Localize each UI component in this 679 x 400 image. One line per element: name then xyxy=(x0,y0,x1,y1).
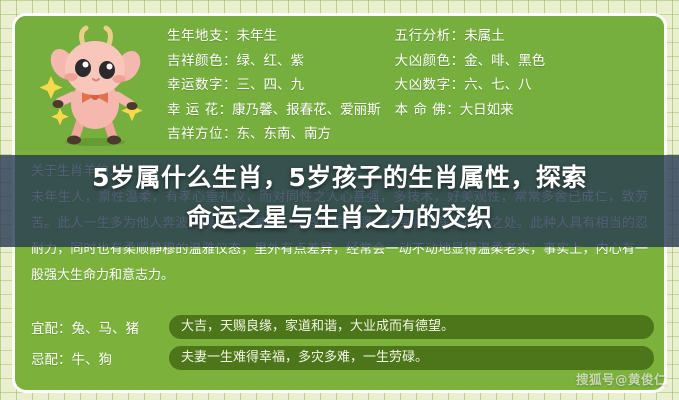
page-title-line-2: 命运之星与生肖之力的交织 xyxy=(26,198,653,238)
page-title: 5岁属什么生肖，5岁孩子的生肖属性，探索 命运之星与生肖之力的交织 xyxy=(0,158,679,238)
attribute-row: 本 命 佛：大日如来 xyxy=(395,98,546,123)
attribute-sep: ： xyxy=(219,102,233,118)
goat-mascot-icon xyxy=(33,24,158,149)
attribute-label: 幸 运 花 xyxy=(167,102,219,118)
attribute-value: 大日如来 xyxy=(460,102,514,118)
attribute-value: 六、七、八 xyxy=(464,77,532,93)
attribute-value: 东、东南、南方 xyxy=(237,126,332,142)
attribute-sep: ： xyxy=(451,28,465,44)
compatibility-label: 忌配：牛、狗 xyxy=(31,348,169,368)
watermark: 搜狐号@黄俊仁 xyxy=(576,369,667,388)
page-title-line-1: 5岁属什么生肖，5岁孩子的生肖属性，探索 xyxy=(26,158,653,198)
attribute-sep: ： xyxy=(446,102,460,118)
attribute-label: 五行分析 xyxy=(395,28,451,44)
attribute-row: 幸 运 花：康乃馨、报春花、爱丽斯 xyxy=(167,98,381,123)
attribute-label: 吉祥颜色 xyxy=(167,53,223,69)
attribute-row: 大凶颜色：金、啡、黑色 xyxy=(395,49,546,74)
attribute-row: 大凶数字：六、七、八 xyxy=(395,73,546,98)
attribute-row: 吉祥颜色：绿、红、紫 xyxy=(167,49,381,74)
attribute-sep: ： xyxy=(451,53,465,69)
attribute-row: 幸运数字：三、四、九 xyxy=(167,73,381,98)
attribute-label: 本 命 佛 xyxy=(395,102,447,118)
compatibility-label: 宜配：兔、马、猪 xyxy=(31,317,169,337)
compatibility-row-bad: 忌配：牛、狗 夫妻一生难得幸福，多灾多难，一生劳碌。 xyxy=(31,344,654,371)
compatibility-row-good: 宜配：兔、马、猪 大吉，天赐良缘，家道和谐，大业成而有德望。 xyxy=(31,313,654,340)
attribute-label: 生年地支 xyxy=(167,28,223,44)
compatibility-section: 宜配：兔、马、猪 大吉，天赐良缘，家道和谐，大业成而有德望。 忌配：牛、狗 夫妻… xyxy=(31,313,654,375)
attribute-row: 生年地支：未年生 xyxy=(167,24,381,49)
attribute-value: 康乃馨、报春花、爱丽斯 xyxy=(232,102,381,118)
attribute-sep: ： xyxy=(223,126,237,142)
compatibility-description: 夫妻一生难得幸福，多灾多难，一生劳碌。 xyxy=(169,346,654,370)
attribute-column-left: 生年地支：未年生 吉祥颜色：绿、红、紫 幸运数字：三、四、九 幸 运 花：康乃馨… xyxy=(167,24,381,147)
attribute-label: 吉祥方位 xyxy=(167,126,223,142)
attribute-label: 大凶数字 xyxy=(395,77,451,93)
page-root: 生年地支：未年生 吉祥颜色：绿、红、紫 幸运数字：三、四、九 幸 运 花：康乃馨… xyxy=(0,0,679,400)
attribute-sep: ： xyxy=(223,53,237,69)
attribute-value: 绿、红、紫 xyxy=(237,53,305,69)
attribute-value: 未年生 xyxy=(237,28,278,44)
attribute-row: 五行分析：未属土 xyxy=(395,24,546,49)
attribute-label: 幸运数字 xyxy=(167,77,223,93)
zodiac-attributes-block: 生年地支：未年生 吉祥颜色：绿、红、紫 幸运数字：三、四、九 幸 运 花：康乃馨… xyxy=(15,16,664,151)
attribute-label: 大凶颜色 xyxy=(395,53,451,69)
attribute-columns: 生年地支：未年生 吉祥颜色：绿、红、紫 幸运数字：三、四、九 幸 运 花：康乃馨… xyxy=(167,24,545,147)
attribute-sep: ： xyxy=(451,77,465,93)
attribute-sep: ： xyxy=(223,28,237,44)
attribute-value: 未属土 xyxy=(464,28,505,44)
compatibility-description: 大吉，天赐良缘，家道和谐，大业成而有德望。 xyxy=(169,315,654,339)
attribute-value: 金、啡、黑色 xyxy=(464,53,545,69)
attribute-row: 吉祥方位：东、东南、南方 xyxy=(167,122,381,147)
attribute-column-right: 五行分析：未属土 大凶颜色：金、啡、黑色 大凶数字：六、七、八 本 命 佛：大日… xyxy=(395,24,546,147)
attribute-sep: ： xyxy=(223,77,237,93)
attribute-value: 三、四、九 xyxy=(237,77,305,93)
